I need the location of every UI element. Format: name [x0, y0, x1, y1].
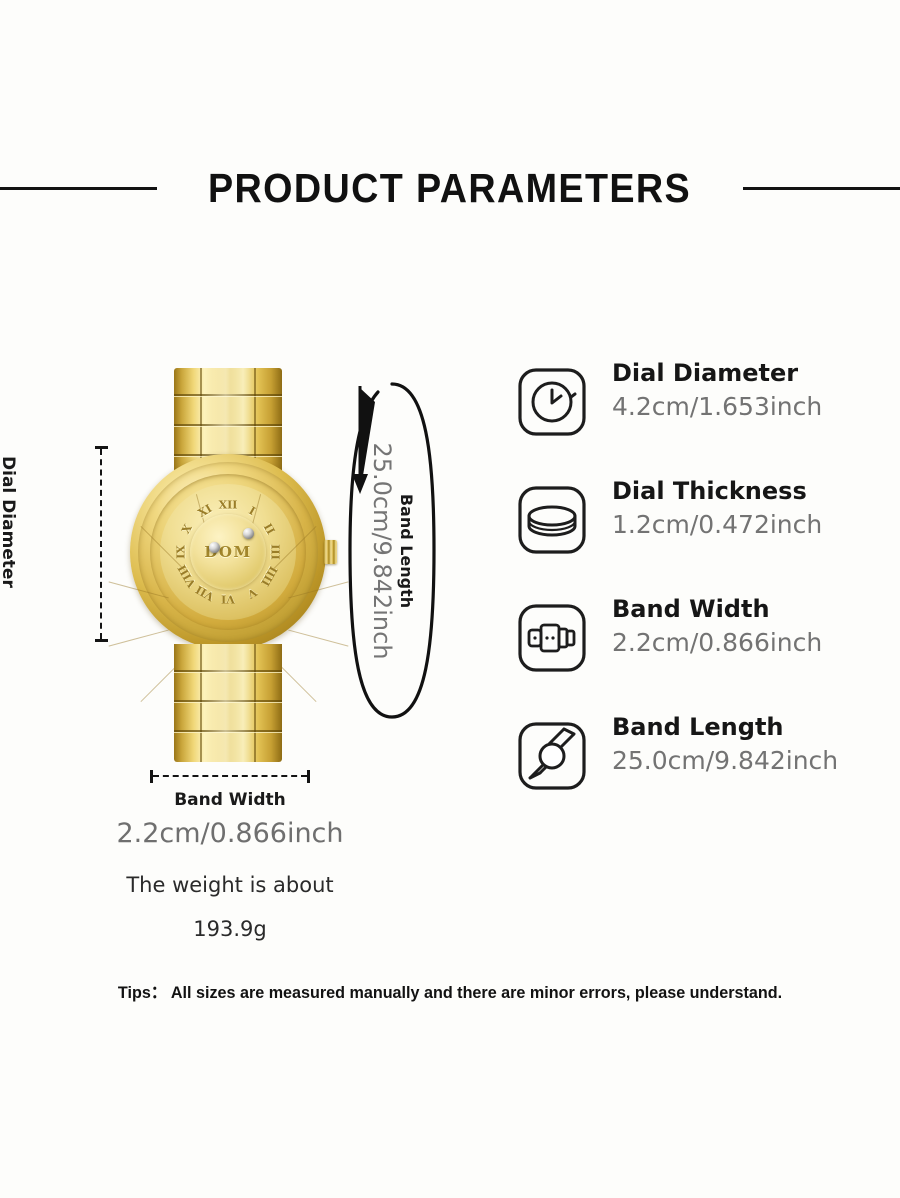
spec-label: Band Width [612, 596, 822, 624]
dimension-shaft [100, 449, 102, 639]
spec-value: 4.2cm/1.653inch [612, 391, 822, 424]
watch-dial: XIIIIIIIIIIIIVVIVIIVIIIIXXXI DOM [160, 484, 296, 620]
watch-center-disc: DOM [190, 514, 266, 590]
band-link-divider [174, 700, 282, 703]
dial-diameter-callout-label: Dial Diameter [0, 456, 18, 588]
spec-row-dial-diameter: Dial Diameter 4.2cm/1.653inch [516, 360, 900, 478]
dimension-cap-bottom [95, 639, 108, 642]
band-seam-left [200, 644, 202, 762]
page-title: PRODUCT PARAMETERS [208, 165, 691, 212]
band-length-callout: Band Length 25.0cm/9.842inch [348, 378, 436, 723]
watch-diagonal-icon [516, 720, 588, 792]
band-length-callout-text: Band Length 25.0cm/9.842inch [362, 401, 422, 701]
magnetic-ball-hour [243, 528, 254, 539]
spec-text: Band Width 2.2cm/0.866inch [612, 596, 822, 659]
disc-thickness-icon [516, 484, 588, 556]
page-title-block: PRODUCT PARAMETERS [0, 158, 900, 218]
weight-text-line2: 193.9g [0, 917, 460, 941]
spec-row-band-length: Band Length 25.0cm/9.842inch [516, 714, 900, 832]
spec-text: Band Length 25.0cm/9.842inch [612, 714, 838, 777]
spec-text: Dial Thickness 1.2cm/0.472inch [612, 478, 822, 541]
magnetic-ball-minute [209, 542, 220, 553]
product-parameters-page: PRODUCT PARAMETERS Dial Diameter 4.2cm/1… [0, 0, 900, 1198]
spec-label: Band Length [612, 714, 838, 742]
watch-case: XIIIIIIIIIIIIVVIVIIVIIIIXXXI DOM [130, 454, 326, 650]
watch-band-lower [174, 644, 282, 762]
band-link-divider [174, 730, 282, 733]
dial-diameter-dimension-line [95, 446, 108, 642]
band-link-divider [174, 424, 282, 427]
band-link-divider [174, 394, 282, 397]
watch-chapter-ring: XIIIIIIIIIIIIVVIVIIVIIIIXXXI DOM [196, 520, 260, 584]
tips-note: Tips： All sizes are measured manually an… [23, 978, 878, 1003]
band-width-callout-value: 2.2cm/0.866inch [0, 818, 460, 849]
dial-diameter-callout: Dial Diameter 4.2cm/1.653inch [0, 430, 18, 660]
band-width-dimension-line [150, 770, 310, 783]
band-width-callout-label: Band Width [0, 790, 460, 810]
spec-value: 1.2cm/0.472inch [612, 509, 822, 542]
title-rule-left [0, 187, 157, 190]
band-seam-right [254, 644, 256, 762]
spec-row-band-width: Band Width 2.2cm/0.866inch [516, 596, 900, 714]
band-link-divider [174, 670, 282, 673]
watch-face-icon [516, 366, 588, 438]
spec-label: Dial Thickness [612, 478, 822, 506]
spec-row-dial-thickness: Dial Thickness 1.2cm/0.472inch [516, 478, 900, 596]
title-rule-right [743, 187, 900, 190]
dimension-shaft [153, 775, 307, 777]
weight-text-line1: The weight is about [0, 873, 460, 897]
band-highlight [204, 644, 252, 762]
spec-value: 25.0cm/9.842inch [612, 745, 838, 778]
watch-crown [324, 540, 337, 564]
band-length-callout-value: 25.0cm/9.842inch [368, 442, 396, 659]
dimension-cap-right [307, 770, 310, 783]
band-length-callout-label: Band Length [397, 493, 416, 607]
spec-list: Dial Diameter 4.2cm/1.653inch Dial Thick… [516, 360, 900, 832]
spec-value: 2.2cm/0.866inch [612, 627, 822, 660]
spec-label: Dial Diameter [612, 360, 822, 388]
watch-product-image: XIIIIIIIIIIIIVVIVIIVIIIIXXXI DOM [130, 368, 326, 758]
spec-text: Dial Diameter 4.2cm/1.653inch [612, 360, 822, 423]
band-buckle-icon [516, 602, 588, 674]
